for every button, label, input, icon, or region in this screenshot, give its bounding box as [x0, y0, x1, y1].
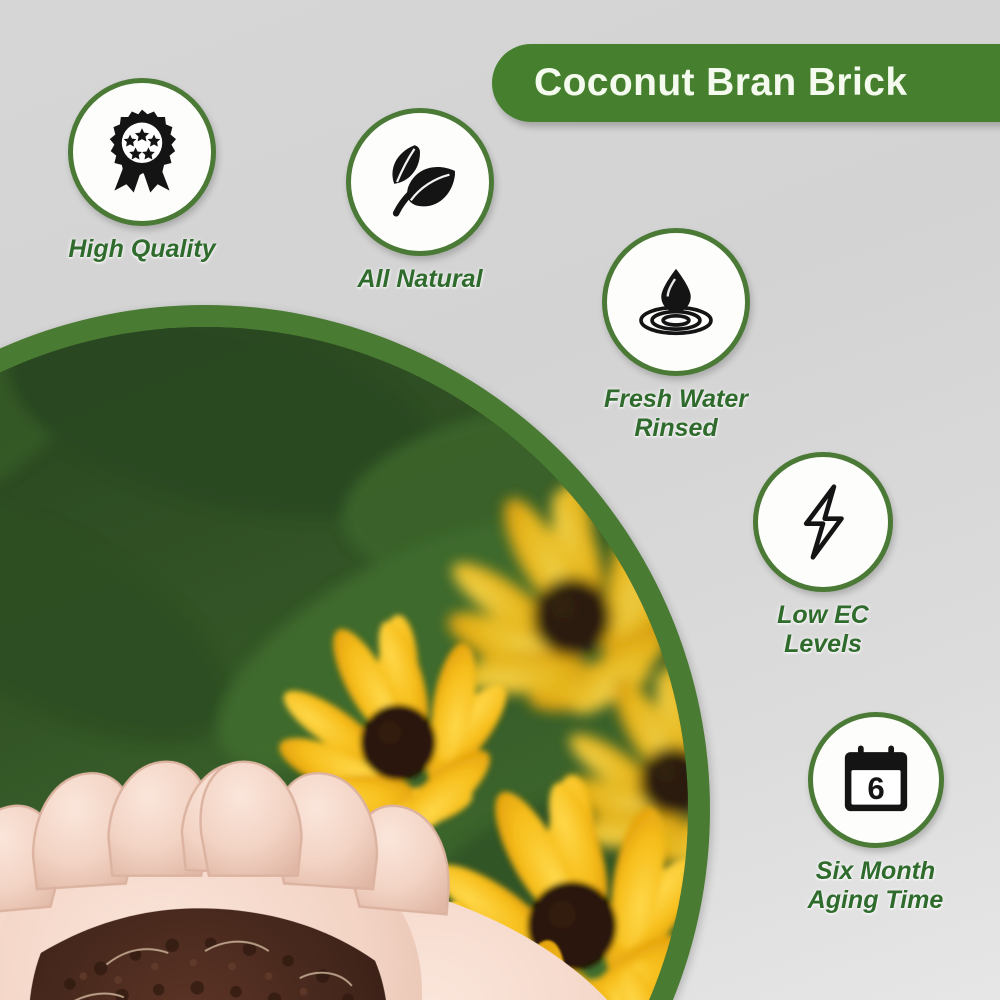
feature-fresh-water-rinsed: Fresh Water Rinsed: [566, 228, 786, 443]
infographic-canvas: Coconut Bran Brick: [0, 0, 1000, 1000]
product-title-banner: Coconut Bran Brick: [492, 44, 1000, 122]
feature-all-natural: All Natural: [310, 108, 530, 294]
feature-badge-circle: [346, 108, 494, 256]
feature-label: Low EC Levels: [777, 601, 869, 659]
feature-high-quality: High Quality: [32, 78, 252, 264]
award-ribbon-icon: [96, 106, 188, 198]
feature-low-ec-levels: Low EC Levels: [718, 452, 928, 659]
leaves-icon: [374, 136, 466, 228]
lightning-bolt-icon: [781, 480, 865, 564]
calendar-icon: 6: [835, 739, 917, 821]
page-title: Coconut Bran Brick: [534, 61, 907, 105]
feature-six-month-aging-time: 6 Six Month Aging Time: [768, 712, 983, 915]
water-droplet-ripple-icon: [630, 256, 722, 348]
calendar-day-number: 6: [867, 771, 884, 806]
feature-label: All Natural: [357, 265, 482, 294]
feature-badge-circle: [68, 78, 216, 226]
feature-label: Six Month Aging Time: [808, 857, 944, 915]
feature-label: Fresh Water Rinsed: [604, 385, 748, 443]
feature-badge-circle: [753, 452, 893, 592]
feature-badge-circle: 6: [808, 712, 944, 848]
feature-badge-circle: [602, 228, 750, 376]
feature-label: High Quality: [68, 235, 215, 264]
